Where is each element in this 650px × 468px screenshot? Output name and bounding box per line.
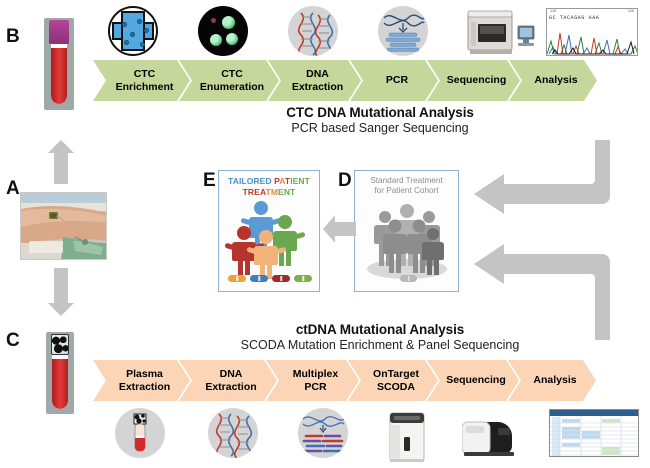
tailored-title-line1: TAILORED PATIENT bbox=[219, 176, 319, 187]
fluorescent-cell bbox=[222, 16, 235, 29]
tailored-treatment-panel: TAILORED PATIENT TREATMENT bbox=[218, 170, 320, 292]
chromatogram-icon: 110 120 GC TACAGAG AAA bbox=[546, 8, 638, 56]
chip-cell-dot bbox=[137, 19, 142, 24]
chip-cell-dot bbox=[122, 22, 127, 27]
step-label: OnTarget SCODA bbox=[373, 368, 419, 392]
workflow-step-multiplex-pcr[interactable]: Multiplex PCR bbox=[266, 360, 359, 401]
ctc-workflow-chevrons: CTC Enrichment CTC Enumeration DNA Extra… bbox=[93, 60, 641, 101]
workflow-step-plasma-extraction[interactable]: Plasma Extraction bbox=[93, 360, 190, 401]
tick-right: 120 bbox=[628, 10, 634, 14]
panel-letter-b: B bbox=[6, 26, 19, 48]
blood-draw-photo bbox=[20, 192, 107, 260]
sanger-sequencer-icon bbox=[466, 8, 538, 56]
dna-helix-icon bbox=[288, 6, 338, 56]
step-label: Plasma Extraction bbox=[119, 368, 170, 392]
panel-letter-a: A bbox=[6, 178, 19, 200]
workflow-step-analysis[interactable]: Analysis bbox=[509, 60, 597, 101]
arrow-shaft bbox=[54, 151, 68, 184]
panel-letter-d: D bbox=[338, 170, 351, 192]
pcr-amplification-svg bbox=[378, 6, 428, 56]
workflow-step-pcr[interactable]: PCR bbox=[350, 60, 438, 101]
blood-tube-edta bbox=[44, 18, 74, 110]
arrow-standard-to-tailored bbox=[322, 212, 356, 246]
tick-left: 110 bbox=[550, 10, 556, 14]
standard-treatment-title: Standard Treatment for Patient Cohort bbox=[355, 171, 458, 197]
step-label: CTC Enrichment bbox=[116, 68, 174, 92]
workflow-step-sequencing[interactable]: Sequencing bbox=[427, 60, 520, 101]
arrow-shaft bbox=[54, 268, 68, 305]
standard-title-line1: Standard Treatment bbox=[355, 176, 458, 186]
results-table-icon bbox=[549, 409, 639, 457]
dna-helix-svg bbox=[288, 6, 338, 56]
ctc-workflow-title: CTC DNA Mutational Analysis bbox=[180, 105, 580, 120]
pill-green bbox=[294, 275, 312, 282]
chip-cell-dot bbox=[130, 32, 135, 37]
pill-gray-standard bbox=[400, 275, 417, 282]
arrow-head bbox=[48, 303, 74, 316]
tube-cap-streck bbox=[51, 334, 70, 355]
workflow-step-ctdna-sequencing[interactable]: Sequencing bbox=[427, 360, 519, 401]
chromatogram-base-calls: GC TACAGAG AAA bbox=[549, 15, 635, 21]
patient-cohort-svg bbox=[355, 197, 460, 285]
return-arrow-top-svg bbox=[466, 140, 642, 220]
step-label: Sequencing bbox=[446, 374, 506, 386]
arrow-left-svg bbox=[322, 212, 356, 246]
workflow-step-ctdna-analysis[interactable]: Analysis bbox=[508, 360, 596, 401]
blood-tube-streck bbox=[46, 332, 74, 414]
chromatogram-trace-svg bbox=[547, 27, 638, 55]
scoda-instrument-icon bbox=[380, 405, 436, 463]
tube-inner bbox=[52, 353, 68, 409]
results-table-grid-svg bbox=[550, 416, 639, 457]
step-label: Analysis bbox=[533, 374, 576, 386]
return-arrow-from-ctc-analysis bbox=[466, 140, 642, 220]
step-label: CTC Enumeration bbox=[200, 68, 264, 92]
tube-inner bbox=[51, 42, 68, 105]
ctdna-workflow-title: ctDNA Mutational Analysis bbox=[180, 322, 580, 337]
ctdna-workflow-title-block: ctDNA Mutational Analysis SCODA Mutation… bbox=[180, 322, 580, 352]
dna-helix-icon bbox=[208, 408, 258, 458]
standard-title-line2: for Patient Cohort bbox=[355, 186, 458, 196]
figure-canvas: B bbox=[0, 0, 650, 468]
standard-treatment-panel: Standard Treatment for Patient Cohort bbox=[354, 170, 459, 292]
tailored-people-svg bbox=[219, 195, 321, 281]
step-label: DNA Extraction bbox=[292, 68, 343, 92]
fluorescent-nucleus-dot bbox=[211, 18, 216, 23]
workflow-step-ontarget-scoda[interactable]: OnTarget SCODA bbox=[348, 360, 438, 401]
ngs-sequencer-svg bbox=[462, 408, 526, 460]
arrow-down-to-ctdna-workflow bbox=[48, 268, 74, 316]
ctdna-workflow-chevrons: Plasma Extraction DNA Extraction Multipl… bbox=[93, 360, 641, 401]
ctc-workflow-title-block: CTC DNA Mutational Analysis PCR based Sa… bbox=[180, 105, 580, 135]
tailored-treatment-title: TAILORED PATIENT TREATMENT bbox=[219, 171, 319, 197]
pcr-amplification-icon bbox=[378, 6, 428, 56]
sequencer-svg bbox=[466, 8, 538, 56]
scoda-instrument-svg bbox=[380, 405, 436, 463]
dna-helix-svg-2 bbox=[208, 408, 258, 458]
step-label: Sequencing bbox=[447, 74, 507, 86]
chip-cell-dot bbox=[140, 42, 145, 47]
pill-red bbox=[272, 275, 290, 282]
microfluidic-chip-icon bbox=[108, 6, 158, 56]
step-label: Analysis bbox=[534, 74, 577, 86]
pill-orange bbox=[228, 275, 246, 282]
workflow-step-dna-extraction[interactable]: DNA Extraction bbox=[268, 60, 361, 101]
ctc-workflow-subtitle: PCR based Sanger Sequencing bbox=[180, 121, 580, 135]
blood-draw-photo-svg bbox=[21, 193, 107, 260]
step-label: DNA Extraction bbox=[205, 368, 256, 392]
fluorescent-cell bbox=[226, 33, 238, 45]
streck-tube-svg bbox=[115, 408, 165, 458]
arrow-up-to-ctc-workflow bbox=[48, 140, 74, 184]
multiplex-pcr-icon bbox=[298, 408, 348, 458]
fluorescent-cell bbox=[210, 34, 222, 46]
step-label: Multiplex PCR bbox=[293, 368, 339, 392]
ctdna-workflow-subtitle: SCODA Mutation Enrichment & Panel Sequen… bbox=[180, 338, 580, 352]
streck-tube-icon bbox=[115, 408, 165, 458]
ngs-sequencer-icon bbox=[462, 408, 526, 460]
multiplex-pcr-svg bbox=[298, 408, 348, 458]
chip-cell-dot bbox=[124, 40, 129, 45]
tube-blood bbox=[52, 359, 68, 409]
pill-blue bbox=[250, 275, 268, 282]
workflow-step-ctc-enrichment[interactable]: CTC Enrichment bbox=[93, 60, 190, 101]
tube-blood bbox=[51, 48, 68, 104]
chromatogram-position-ticks: 110 120 bbox=[550, 10, 634, 14]
panel-letter-e: E bbox=[203, 170, 215, 192]
fluorescent-cells-icon bbox=[198, 6, 248, 56]
workflow-step-ctc-enumeration[interactable]: CTC Enumeration bbox=[179, 60, 279, 101]
workflow-step-ctdna-dna-extraction[interactable]: DNA Extraction bbox=[179, 360, 277, 401]
tube-cap-purple bbox=[49, 20, 69, 44]
chip-cell-dot bbox=[144, 28, 149, 33]
panel-letter-c: C bbox=[6, 330, 19, 352]
step-label: PCR bbox=[386, 74, 408, 86]
